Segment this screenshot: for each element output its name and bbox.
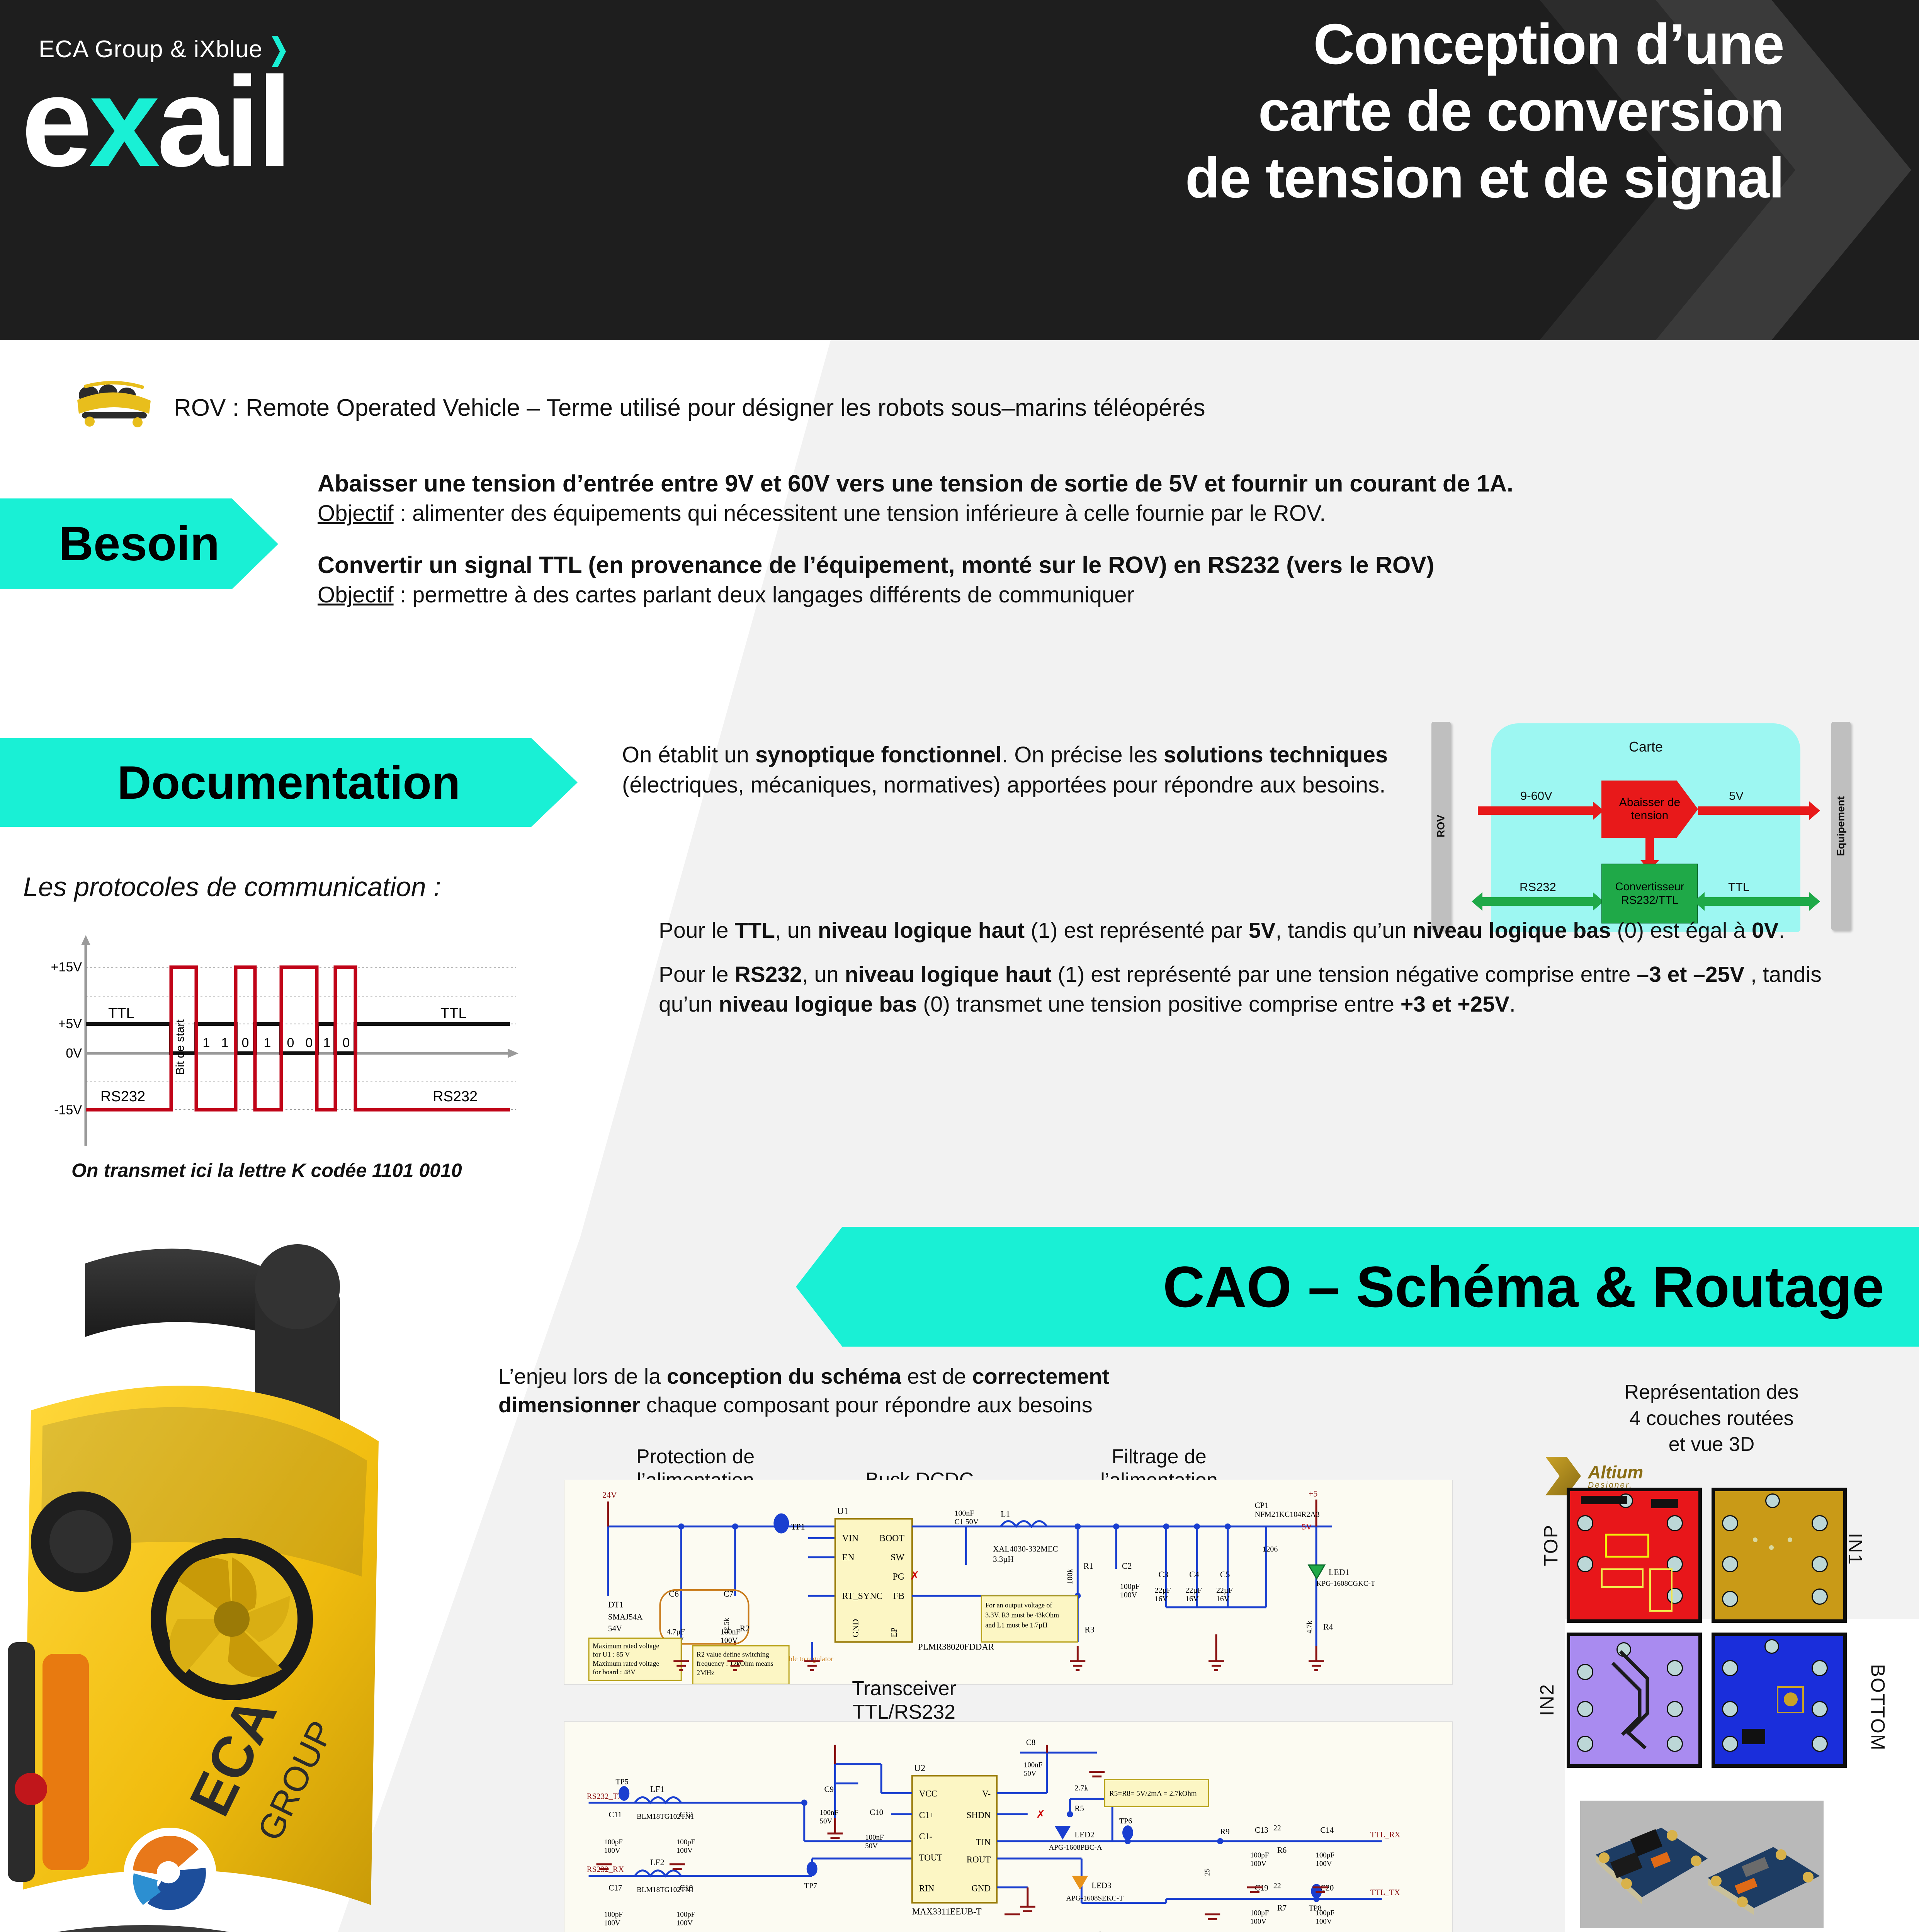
altium-wordmark: AltiumDesigner. — [1588, 1463, 1643, 1489]
besoin-content: Abaisser une tension d’entrée entre 9V e… — [318, 468, 1824, 631]
svg-text:XAL4030-332MEC: XAL4030-332MEC — [993, 1544, 1058, 1553]
ttl-j: 0V — [1752, 918, 1779, 943]
svg-text:R6: R6 — [1277, 1845, 1287, 1855]
svg-text:GND: GND — [972, 1884, 991, 1893]
pcb-label-in2: IN2 — [1536, 1684, 1558, 1716]
objectif-label-1: Objectif — [318, 501, 394, 526]
svg-text:100pF: 100pF — [1316, 1851, 1334, 1859]
svg-text:25: 25 — [1203, 1869, 1211, 1876]
svg-text:U1: U1 — [837, 1507, 848, 1517]
protocols-title: Les protocoles de communication : — [23, 871, 441, 902]
doc-intro-b: synoptique fonctionnel — [755, 742, 1002, 767]
ttl-d: niveau logique haut — [818, 918, 1025, 943]
svg-text:24V: 24V — [602, 1490, 617, 1500]
svg-text:LED1: LED1 — [1329, 1567, 1350, 1577]
svg-text:PG: PG — [892, 1572, 904, 1582]
svg-text:100V: 100V — [1120, 1591, 1137, 1599]
svg-text:100pF: 100pF — [1316, 1909, 1334, 1917]
svg-text:TP7: TP7 — [804, 1882, 817, 1890]
svg-text:Maximum rated voltage: Maximum rated voltage — [593, 1642, 659, 1650]
page-title: Conception d’une carte de conversion de … — [741, 11, 1784, 211]
ttl-f: 5V — [1249, 918, 1276, 943]
svg-text:C4: C4 — [1189, 1570, 1199, 1579]
svg-text:RT_SYNC: RT_SYNC — [842, 1591, 883, 1601]
ttl-c: , un — [775, 918, 818, 943]
pcb-layer-gallery: TOP IN1 IN2 BOTTOM — [1557, 1488, 1851, 1781]
svg-text:GND: GND — [850, 1619, 860, 1637]
ttl-rs232-waveform-figure: +15V +5V 0V -15V TTL TTL RS232 RS232 Bit… — [50, 935, 525, 1151]
svg-text:54V: 54V — [608, 1624, 622, 1633]
poster-header: ECA Group & iXblue❯ exail Conception d’u… — [0, 0, 1919, 340]
ttl-h: niveau logique bas — [1413, 918, 1611, 943]
doc-intro-c: . On précise les — [1002, 742, 1164, 767]
synoptique-input-voltage: 9-60V — [1520, 789, 1552, 803]
cao-a: L’enjeu lors de la — [498, 1364, 667, 1388]
svg-text:APG-1608SEKC-T: APG-1608SEKC-T — [1066, 1894, 1124, 1902]
svg-text:5V: 5V — [1302, 1522, 1312, 1532]
svg-text:TP6: TP6 — [1119, 1817, 1132, 1825]
svg-text:TIN: TIN — [976, 1837, 991, 1847]
synoptique-rov-block: ROV — [1431, 722, 1451, 930]
svg-text:LED2: LED2 — [1074, 1830, 1094, 1839]
svg-text:100V: 100V — [604, 1847, 620, 1855]
section-tag-documentation: Documentation — [0, 738, 578, 827]
svg-text:U2: U2 — [914, 1764, 925, 1774]
svg-text:16V: 16V — [1155, 1595, 1168, 1603]
svg-text:TTL: TTL — [108, 1005, 134, 1022]
svg-text:+5: +5 — [1309, 1489, 1317, 1498]
svg-text:LF1: LF1 — [650, 1784, 665, 1794]
svg-text:KPG-1608CGKC-T: KPG-1608CGKC-T — [1316, 1580, 1375, 1588]
svg-text:R5: R5 — [1074, 1804, 1084, 1813]
svg-text:TTL: TTL — [440, 1005, 467, 1022]
svg-text:RS232: RS232 — [433, 1088, 478, 1105]
svg-text:for U1 : 85 V: for U1 : 85 V — [593, 1650, 630, 1658]
svg-text:100pF: 100pF — [1250, 1909, 1269, 1917]
svg-text:100pF: 100pF — [1120, 1582, 1140, 1591]
title-line-3: de tension et de signal — [741, 145, 1784, 211]
svg-text:50V: 50V — [1024, 1770, 1037, 1778]
svg-text:50V: 50V — [820, 1817, 833, 1825]
svg-text:100V: 100V — [1250, 1917, 1266, 1925]
pcb-layer-top — [1567, 1488, 1702, 1623]
besoin-item1-title: Abaisser une tension d’entrée entre 9V e… — [318, 468, 1824, 499]
synoptique-arrow-output-power — [1698, 806, 1810, 815]
logo-x: x — [89, 50, 157, 193]
rs-i: (0) transmet une tension positive compri… — [917, 992, 1400, 1017]
svg-text:1: 1 — [323, 1036, 331, 1050]
pcb-label-in1: IN1 — [1844, 1533, 1866, 1565]
svg-text:100V: 100V — [1250, 1860, 1266, 1868]
svg-text:LED3: LED3 — [1091, 1881, 1111, 1890]
schematic-transceiver: U2 VCC C1+ C1- TOUT RIN V- SHDN TIN ROUT… — [564, 1721, 1453, 1932]
documentation-intro: On établit un synoptique fonctionnel. On… — [622, 740, 1395, 800]
rs-c: , un — [802, 962, 845, 987]
pcb-3d-render — [1580, 1801, 1824, 1928]
svg-text:MAX3311EEUB-T: MAX3311EEUB-T — [912, 1906, 982, 1916]
svg-text:R5=R8= 5V/2mA = 2.7kOhm: R5=R8= 5V/2mA = 2.7kOhm — [1109, 1789, 1197, 1798]
svg-text:100k: 100k — [1066, 1569, 1074, 1584]
svg-text:1: 1 — [203, 1036, 210, 1050]
svg-text:L1: L1 — [1001, 1509, 1010, 1519]
svg-text:2MHz: 2MHz — [697, 1669, 714, 1677]
svg-text:TTL_RX: TTL_RX — [1370, 1830, 1401, 1839]
svg-text:APG-1608PBC-A: APG-1608PBC-A — [1049, 1844, 1102, 1852]
svg-text:C5: C5 — [1220, 1570, 1230, 1579]
svg-text:BOOT: BOOT — [879, 1533, 904, 1543]
protocol-explanations: Pour le TTL, un niveau logique haut (1) … — [659, 916, 1860, 1034]
synoptique-rov-label: ROV — [1435, 815, 1447, 838]
cao-b: conception du schéma — [667, 1364, 901, 1388]
synoptique-converter-block: Convertisseur RS232/TTL — [1601, 864, 1698, 923]
synoptique-arrow-rs232 — [1482, 897, 1594, 906]
svg-text:0: 0 — [287, 1036, 294, 1050]
logo-ail: ail — [157, 50, 289, 193]
svg-text:TP5: TP5 — [615, 1777, 628, 1786]
svg-text:FB: FB — [893, 1591, 904, 1601]
rs-e: (1) est représenté par une tension négat… — [1052, 962, 1637, 987]
synoptique-equipment-label: Equipement — [1835, 796, 1847, 856]
svg-text:C14: C14 — [1320, 1825, 1334, 1835]
svg-text:TTL_TX: TTL_TX — [1370, 1888, 1400, 1897]
svg-text:C18: C18 — [680, 1883, 693, 1893]
svg-text:22µF: 22µF — [1185, 1586, 1202, 1595]
svg-text:R1: R1 — [1083, 1561, 1093, 1571]
ttl-a: Pour le — [659, 918, 734, 943]
ttl-i: (0) est égal à — [1611, 918, 1752, 943]
svg-text:R4: R4 — [1323, 1622, 1333, 1632]
svg-text:Maximum rated voltage: Maximum rated voltage — [593, 1660, 659, 1667]
rov-photograph: ECA GROUP R7 — [0, 1209, 587, 1932]
svg-text:100V: 100V — [1316, 1860, 1332, 1868]
svg-text:C17: C17 — [609, 1883, 622, 1893]
rov-definition-note: ROV : Remote Operated Vehicle – Terme ut… — [174, 394, 1205, 422]
besoin-item2-objective: Objectif : permettre à des cartes parlan… — [318, 580, 1824, 609]
synoptique-output-voltage: 5V — [1729, 789, 1744, 803]
rs-d: niveau logique haut — [845, 962, 1052, 987]
svg-text:PLMR38020FDDAR: PLMR38020FDDAR — [918, 1642, 994, 1651]
pcb-layer-in2 — [1567, 1633, 1702, 1768]
svg-text:EP: EP — [889, 1628, 899, 1638]
svg-text:SW: SW — [891, 1553, 904, 1563]
svg-text:-15V: -15V — [54, 1103, 82, 1117]
svg-text:100nF: 100nF — [1024, 1761, 1042, 1769]
synoptique-ttl-label: TTL — [1728, 880, 1749, 894]
objectif-text-2: : permettre à des cartes parlant deux la… — [394, 582, 1134, 607]
svg-text:4.7µF: 4.7µF — [666, 1628, 685, 1636]
logo-e: e — [21, 50, 89, 193]
svg-text:and L1 must be 1.7µH: and L1 must be 1.7µH — [985, 1621, 1047, 1629]
svg-text:C1-: C1- — [919, 1832, 932, 1841]
doc-intro-e: (électriques, mécaniques, normatives) ap… — [622, 772, 1385, 798]
svg-text:RIN: RIN — [919, 1884, 935, 1893]
synoptique-diagram: ROV Carte 9-60V 5V Abaisser de tension R… — [1431, 715, 1887, 939]
altium-name: Altium — [1588, 1462, 1643, 1482]
svg-text:R8 2.7k: R8 2.7k — [1078, 1930, 1103, 1932]
ttl-explanation: Pour le TTL, un niveau logique haut (1) … — [659, 916, 1860, 946]
rs-b: RS232 — [734, 962, 802, 987]
svg-text:16V: 16V — [1185, 1595, 1199, 1603]
svg-text:R7: R7 — [1277, 1903, 1287, 1912]
svg-text:TP1: TP1 — [791, 1522, 805, 1532]
svg-text:VIN: VIN — [842, 1533, 858, 1543]
svg-text:For an output voltage of: For an output voltage of — [985, 1601, 1052, 1609]
ttl-b: TTL — [734, 918, 775, 943]
pcb-layer-bottom — [1712, 1633, 1847, 1768]
svg-text:1206: 1206 — [1263, 1545, 1278, 1553]
schematic-label-transceiver: Transceiver TTL/RS232 — [788, 1677, 1020, 1725]
doc-intro-a: On établit un — [622, 742, 755, 767]
svg-text:C12: C12 — [680, 1810, 693, 1819]
svg-text:C8: C8 — [1026, 1738, 1035, 1747]
svg-text:C11: C11 — [609, 1810, 622, 1819]
rs-j: +3 et +25V — [1401, 992, 1509, 1017]
svg-text:100nF: 100nF — [955, 1509, 974, 1518]
objectif-text-1: : alimenter des équipements qui nécessit… — [394, 501, 1326, 526]
rov-thumbnail-icon — [62, 377, 166, 431]
pcb-layers-note: Représentation des 4 couches routées et … — [1538, 1379, 1885, 1458]
svg-text:LF2: LF2 — [650, 1857, 665, 1867]
svg-text:C13: C13 — [1255, 1825, 1268, 1835]
svg-text:0: 0 — [306, 1036, 313, 1050]
svg-text:Bit de start: Bit de start — [174, 1019, 187, 1075]
svg-text:CP1: CP1 — [1255, 1501, 1269, 1510]
section-tag-cao: CAO – Schéma & Routage — [796, 1227, 1919, 1347]
svg-text:22: 22 — [1273, 1824, 1281, 1832]
waveform-caption: On transmet ici la lettre K codée 1101 0… — [71, 1159, 462, 1182]
svg-text:0V: 0V — [66, 1046, 82, 1061]
svg-text:100V: 100V — [1316, 1917, 1332, 1925]
pcb-label-bottom: BOTTOM — [1866, 1664, 1889, 1751]
besoin-item2-title: Convertir un signal TTL (en provenance d… — [318, 550, 1824, 580]
svg-text:100pF: 100pF — [604, 1910, 622, 1918]
rs232-explanation: Pour le RS232, un niveau logique haut (1… — [659, 960, 1860, 1020]
svg-text:16V: 16V — [1216, 1595, 1230, 1603]
svg-text:100pF: 100pF — [604, 1838, 622, 1846]
besoin-item1-objective: Objectif : alimenter des équipements qui… — [318, 499, 1824, 528]
synoptique-arrow-input-power — [1478, 806, 1594, 815]
svg-text:50V: 50V — [865, 1842, 878, 1850]
rs-f: –3 et –25V — [1637, 962, 1744, 987]
svg-text:C1+: C1+ — [919, 1810, 935, 1820]
svg-text:RS232: RS232 — [100, 1088, 145, 1105]
svg-text:V-: V- — [982, 1789, 991, 1798]
svg-text:RS232_TX: RS232_TX — [587, 1791, 624, 1801]
doc-intro-d: solutions techniques — [1164, 742, 1388, 767]
svg-text:TOUT: TOUT — [919, 1853, 943, 1862]
svg-text:+5V: +5V — [58, 1017, 82, 1031]
svg-text:22µF: 22µF — [1216, 1586, 1232, 1595]
svg-text:22: 22 — [1273, 1882, 1281, 1890]
svg-text:100pF: 100pF — [676, 1910, 695, 1918]
svg-text:EN: EN — [842, 1553, 855, 1563]
cao-introduction: L’enjeu lors de la conception du schéma … — [498, 1362, 1232, 1420]
title-line-2: carte de conversion — [741, 78, 1784, 145]
svg-text:R3: R3 — [1084, 1625, 1095, 1634]
rs-a: Pour le — [659, 962, 734, 987]
svg-text:1: 1 — [264, 1036, 271, 1050]
ttl-e: (1) est représenté par — [1025, 918, 1249, 943]
pcb-label-top: TOP — [1540, 1524, 1562, 1566]
svg-text:R2: R2 — [740, 1624, 750, 1633]
svg-text:100pF: 100pF — [1250, 1851, 1269, 1859]
rs-h: niveau logique bas — [719, 992, 917, 1017]
exail-logo: exail — [21, 58, 289, 185]
svg-text:3.3V, R3 must be 43kOhm: 3.3V, R3 must be 43kOhm — [985, 1611, 1059, 1619]
svg-text:4.7k: 4.7k — [1305, 1621, 1314, 1634]
svg-text:C3: C3 — [1159, 1570, 1169, 1579]
svg-text:R2 value define switching: R2 value define switching — [697, 1650, 769, 1658]
svg-text:C9: C9 — [824, 1784, 834, 1794]
svg-text:C1 50V: C1 50V — [955, 1518, 979, 1526]
svg-text:VCC: VCC — [919, 1789, 937, 1798]
section-tag-besoin: Besoin — [0, 498, 278, 589]
ttl-g: , tandis qu’un — [1276, 918, 1413, 943]
poster-root: ECA Group & iXblue❯ exail Conception d’u… — [0, 0, 1919, 1932]
svg-text:2.7k: 2.7k — [1074, 1784, 1088, 1792]
svg-text:for board : 48V: for board : 48V — [593, 1668, 636, 1676]
svg-text:100nF: 100nF — [820, 1809, 838, 1817]
synoptique-arrow-power-to-converter — [1645, 838, 1654, 861]
synoptique-equipment-block: Equipement — [1831, 722, 1851, 930]
svg-text:SMAJ54A: SMAJ54A — [608, 1612, 642, 1622]
svg-text:0: 0 — [343, 1036, 350, 1050]
svg-text:✗: ✗ — [1036, 1809, 1045, 1821]
synoptique-arrow-ttl — [1704, 897, 1810, 906]
cao-e: chaque composant pour répondre aux besoi… — [640, 1393, 1093, 1417]
schematic-power-supply: TP1 24V +5 U1 VIN EN RT_SYNC BOOT SW PG … — [564, 1480, 1453, 1685]
svg-text:C10: C10 — [870, 1808, 883, 1817]
ttl-k: . — [1779, 918, 1785, 943]
svg-text:NFM21KC104R2A3: NFM21KC104R2A3 — [1255, 1510, 1320, 1519]
svg-text:0: 0 — [242, 1036, 249, 1050]
rs-k: . — [1509, 992, 1516, 1017]
svg-text:+15V: +15V — [51, 960, 82, 975]
svg-text:DT1: DT1 — [608, 1600, 624, 1609]
svg-text:100V: 100V — [604, 1919, 620, 1927]
svg-text:100V: 100V — [676, 1847, 693, 1855]
svg-text:SHDN: SHDN — [967, 1810, 991, 1820]
svg-text:R9: R9 — [1220, 1827, 1229, 1836]
svg-text:100nF: 100nF — [865, 1833, 884, 1842]
cao-c: est de — [901, 1364, 972, 1388]
svg-text:100V: 100V — [676, 1919, 693, 1927]
synoptique-carte-label: Carte — [1491, 739, 1800, 755]
svg-text:✗: ✗ — [910, 1570, 920, 1582]
svg-text:12.5k: 12.5k — [723, 1617, 731, 1634]
pcb-layer-in1 — [1712, 1488, 1847, 1623]
svg-text:3.3µH: 3.3µH — [993, 1554, 1013, 1564]
svg-text:1: 1 — [221, 1036, 229, 1050]
objectif-label-2: Objectif — [318, 582, 394, 607]
svg-text:100pF: 100pF — [676, 1838, 695, 1846]
synoptique-rs232-label: RS232 — [1520, 880, 1556, 894]
svg-text:ROUT: ROUT — [967, 1855, 991, 1864]
svg-text:C2: C2 — [1122, 1561, 1132, 1571]
title-line-1: Conception d’une — [741, 11, 1784, 78]
svg-text:22µF: 22µF — [1155, 1586, 1171, 1595]
